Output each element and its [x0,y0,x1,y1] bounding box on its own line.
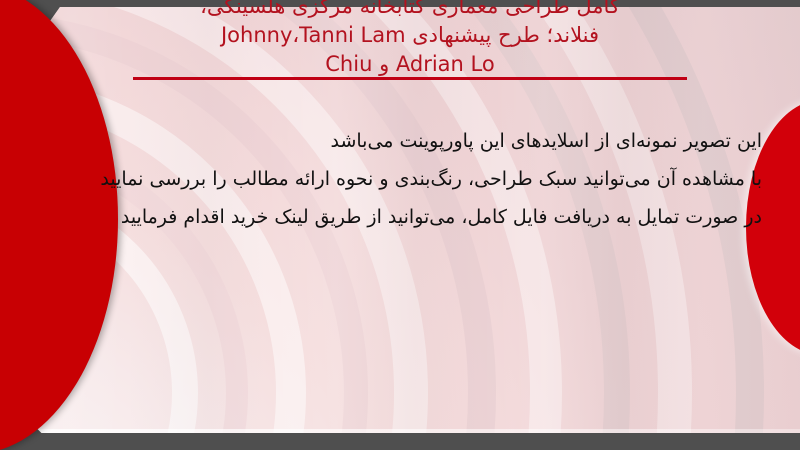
slide-title-line-1: کامل طراحی معماری کتابخانه مرکزی هلسینکی… [200,0,620,18]
slide-body-text: این تصویر نمونه‌ای از اسلایدهای این پاور… [42,122,762,236]
body-line-3: در صورت تمایل به دریافت فایل کامل، می‌تو… [42,198,762,236]
body-line-1: این تصویر نمونه‌ای از اسلایدهای این پاور… [42,122,762,160]
slide-bottom-highlight [18,429,800,433]
slide-title-line-3: Adrian Lo و Chiu [325,52,494,76]
presentation-slide: کامل طراحی معماری کتابخانه مرکزی هلسینکی… [0,0,800,450]
slide-title: کامل طراحی معماری کتابخانه مرکزی هلسینکی… [70,0,750,79]
body-line-2: با مشاهده آن می‌توانید سبک طراحی، رنگ‌بن… [42,160,762,198]
title-divider [133,77,687,80]
slide-title-line-2: فنلاند؛ طرح پیشنهادی Johnny،Tanni Lam [221,23,599,47]
